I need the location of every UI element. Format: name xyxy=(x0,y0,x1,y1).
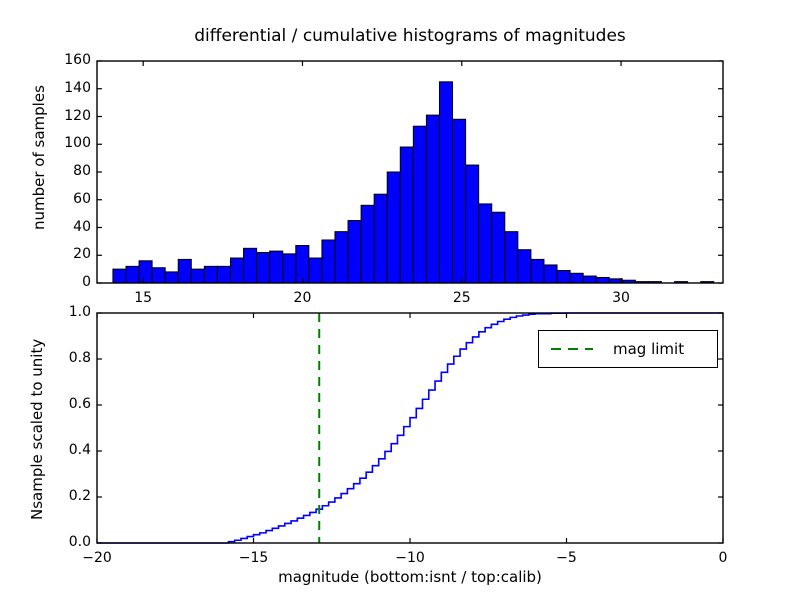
histogram-bar xyxy=(701,282,714,283)
histogram-bar xyxy=(570,273,583,283)
top-x-tick-label: 15 xyxy=(118,290,168,306)
bottom-x-tick-label: −5 xyxy=(542,550,592,566)
bottom-y-tick-label: 0.8 xyxy=(51,350,91,366)
histogram-bar xyxy=(400,147,413,283)
bottom-y-tick-label: 0.0 xyxy=(51,534,91,550)
bottom-x-tick-label: −20 xyxy=(72,550,122,566)
top-x-tick-label: 30 xyxy=(596,290,646,306)
histogram-bar xyxy=(191,269,204,283)
chart-title: differential / cumulative histograms of … xyxy=(97,26,723,46)
histogram-bar xyxy=(505,232,518,283)
bottom-x-tick-label: −15 xyxy=(229,550,279,566)
histogram-bar xyxy=(596,277,609,283)
histogram-bar xyxy=(230,258,243,283)
top-y-tick-label: 20 xyxy=(51,246,91,262)
histogram-bar xyxy=(648,282,661,283)
histogram-bar xyxy=(139,261,152,283)
histogram-bar xyxy=(296,246,309,283)
histogram-bar xyxy=(217,266,230,283)
legend[interactable]: mag limit xyxy=(538,330,718,368)
top-y-tick-label: 140 xyxy=(51,80,91,96)
legend-label-mag-limit: mag limit xyxy=(613,340,684,358)
histogram-bar xyxy=(244,248,257,283)
histogram-bar xyxy=(270,251,283,283)
histogram-bar xyxy=(387,172,400,283)
histogram-bar xyxy=(426,115,439,283)
histogram-bar xyxy=(453,119,466,283)
top-y-tick-label: 120 xyxy=(51,108,91,124)
histogram-bar xyxy=(178,259,191,283)
histogram-bar xyxy=(622,280,635,283)
histogram-bar xyxy=(204,266,217,283)
top-y-tick-label: 40 xyxy=(51,219,91,235)
top-y-tick-label: 100 xyxy=(51,135,91,151)
histogram-bar xyxy=(283,254,296,283)
histogram-bar xyxy=(479,204,492,283)
histogram-bar xyxy=(583,276,596,283)
histogram-bar xyxy=(322,240,335,283)
histogram-bar xyxy=(309,258,322,283)
bottom-y-tick-label: 0.4 xyxy=(51,442,91,458)
bottom-axis-xlabel: magnitude (bottom:isnt / top:calib) xyxy=(97,568,723,586)
top-y-tick-label: 0 xyxy=(51,274,91,290)
top-axes-frame xyxy=(97,61,723,283)
histogram-bar xyxy=(635,282,648,283)
histogram-bar xyxy=(126,266,139,283)
histogram-bar xyxy=(544,265,557,283)
histogram-bar xyxy=(361,205,374,283)
histogram-bar xyxy=(609,279,622,283)
histogram-bar xyxy=(531,259,544,283)
legend-mag-limit-line-icon xyxy=(549,342,595,356)
histogram-bar xyxy=(113,269,126,283)
histogram-bar xyxy=(165,272,178,283)
histogram-bar xyxy=(492,212,505,283)
top-x-tick-label: 25 xyxy=(437,290,487,306)
histogram-bar xyxy=(466,165,479,283)
bottom-y-tick-label: 1.0 xyxy=(51,304,91,320)
histogram-bar xyxy=(413,126,426,283)
top-y-tick-label: 60 xyxy=(51,191,91,207)
histogram-bar xyxy=(557,271,570,283)
top-y-tick-label: 80 xyxy=(51,163,91,179)
bottom-y-tick-label: 0.6 xyxy=(51,396,91,412)
bottom-axis-ylabel: Nsample scaled to unity xyxy=(28,339,46,520)
histogram-bar xyxy=(335,232,348,283)
top-axis-ylabel: number of samples xyxy=(30,85,48,230)
histogram-bar xyxy=(518,250,531,283)
histogram-bar xyxy=(439,82,452,283)
figure-canvas: differential / cumulative histograms of … xyxy=(0,0,800,600)
bottom-x-tick-label: −10 xyxy=(385,550,435,566)
histogram-bar xyxy=(152,268,165,283)
bottom-x-tick-label: 0 xyxy=(698,550,748,566)
top-y-tick-label: 160 xyxy=(51,52,91,68)
bottom-y-tick-label: 0.2 xyxy=(51,488,91,504)
histogram-bar xyxy=(675,282,688,283)
histogram-bar xyxy=(374,194,387,283)
histogram-bar xyxy=(257,252,270,283)
top-x-tick-label: 20 xyxy=(277,290,327,306)
histogram-bar xyxy=(348,221,361,283)
